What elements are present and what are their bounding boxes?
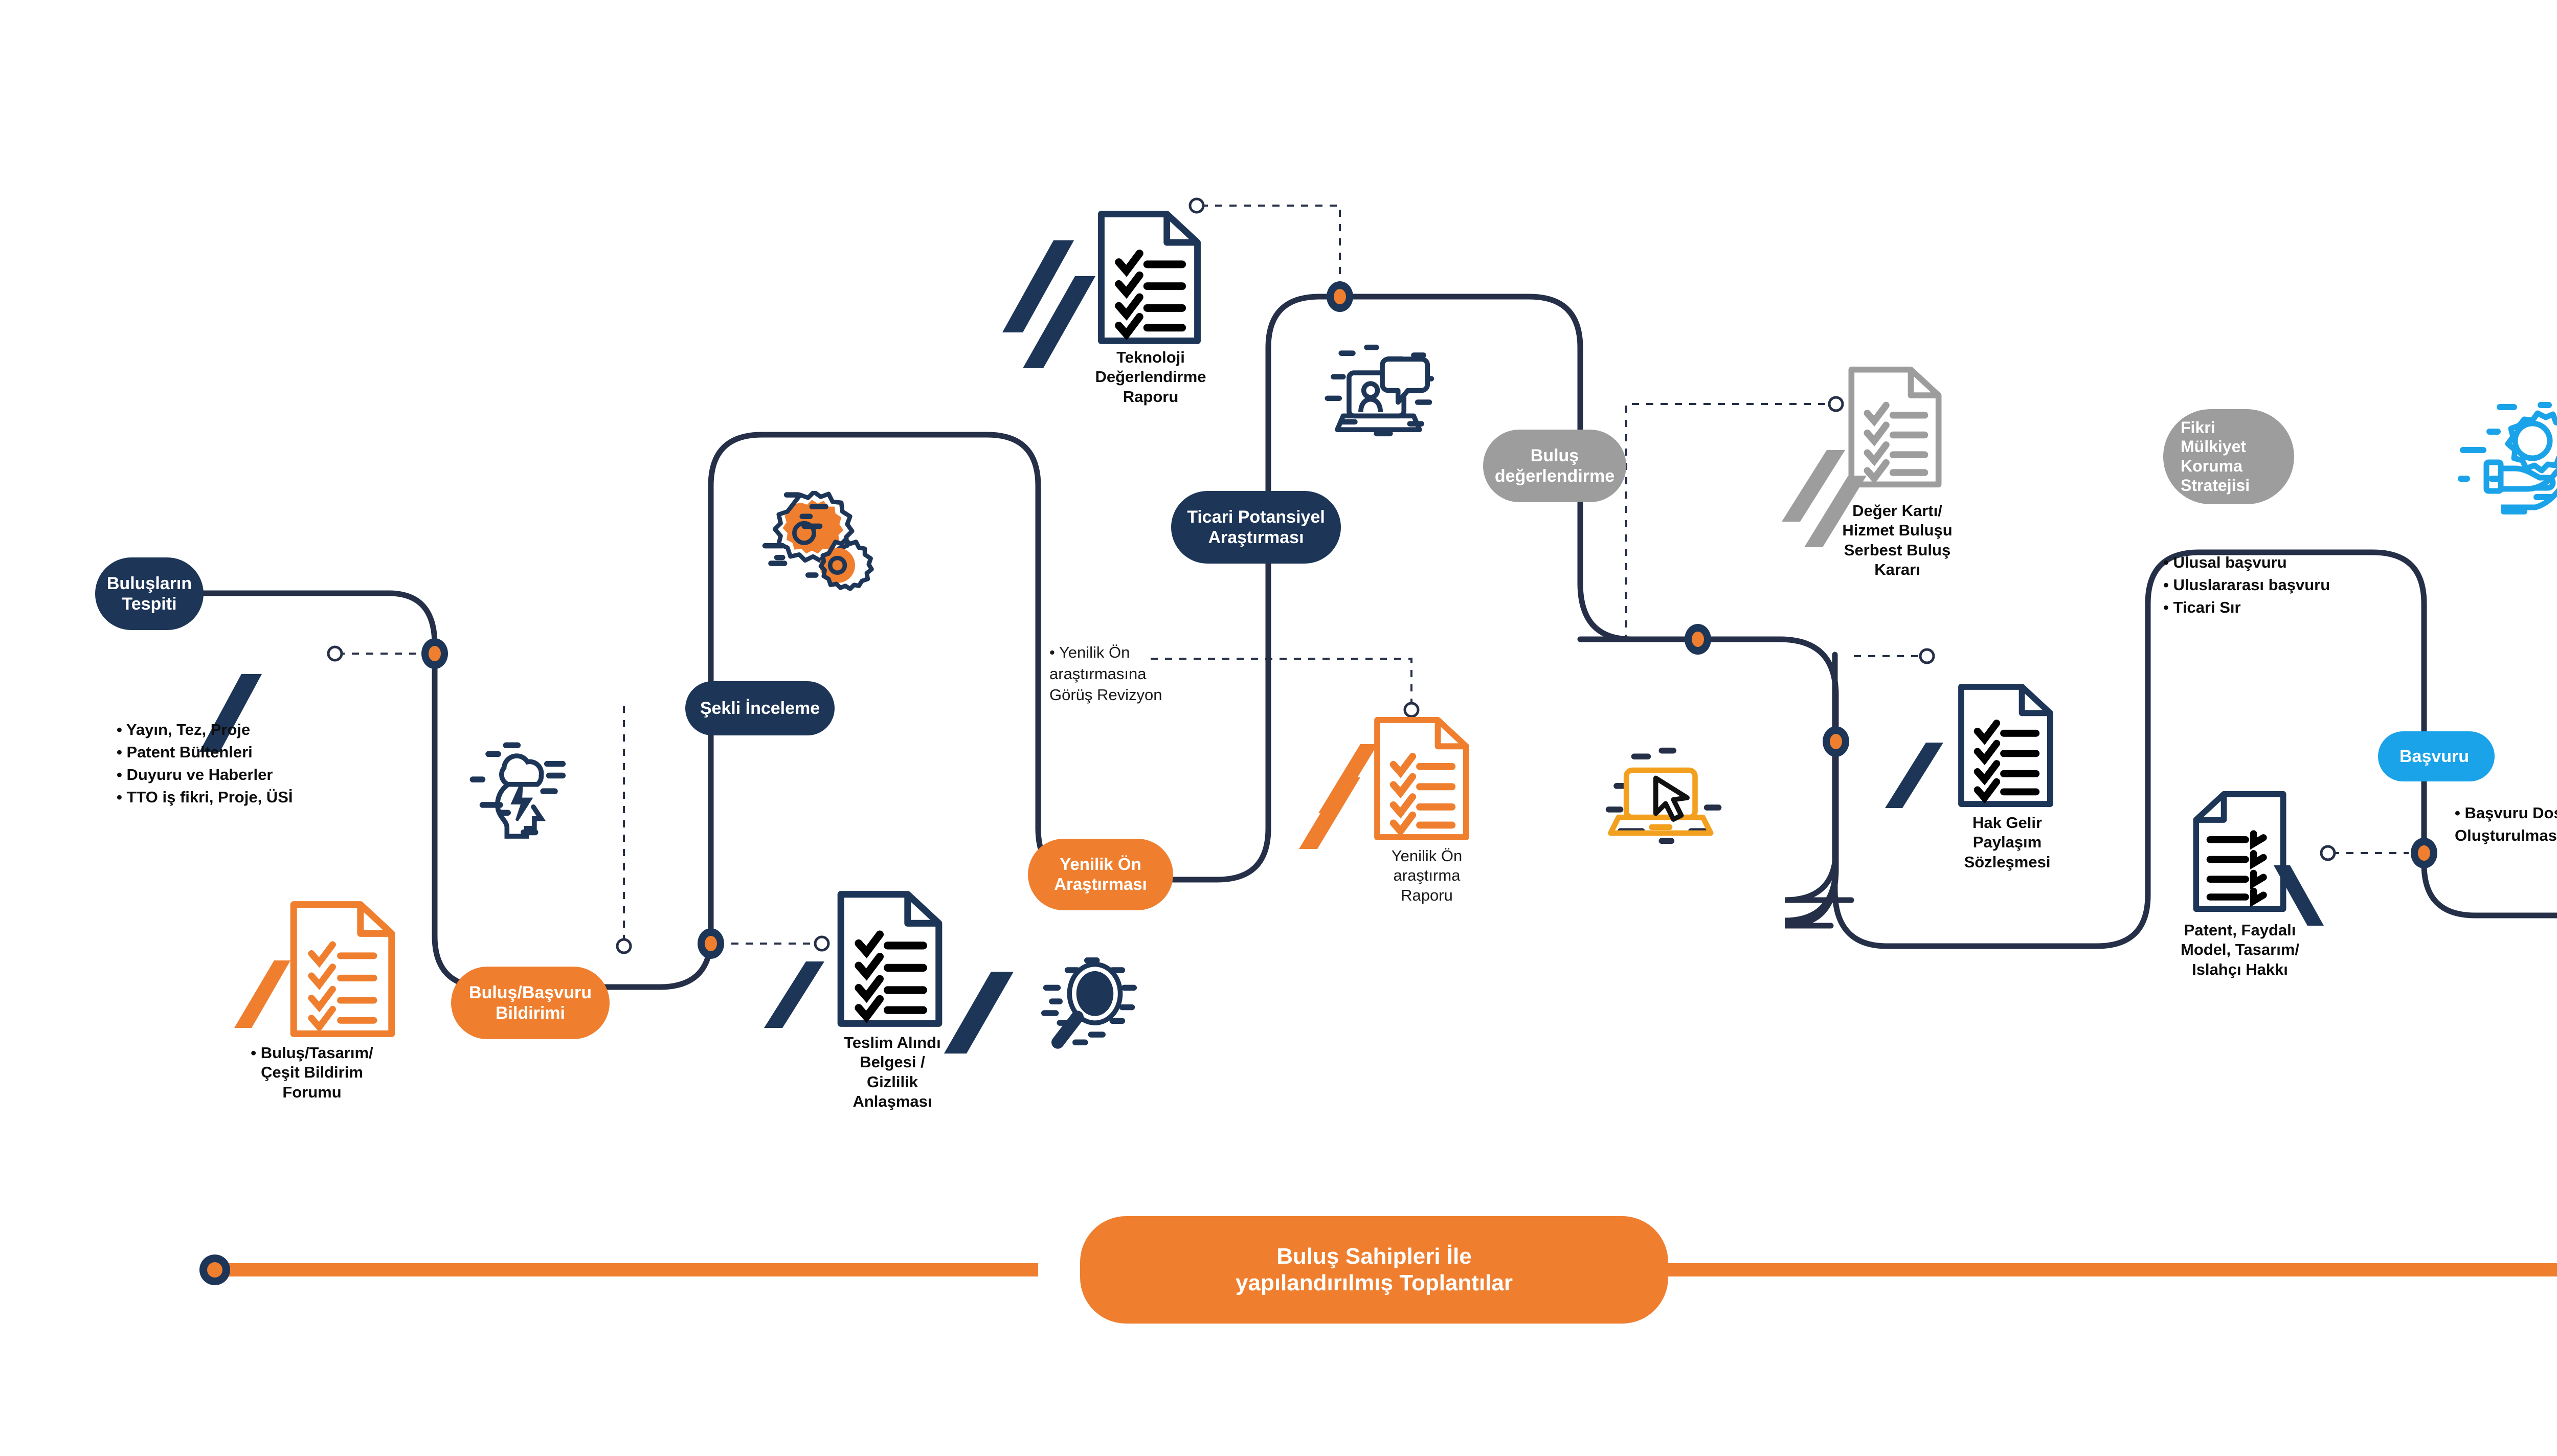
footer-label: Buluş Sahipleri İle yapılandırılmış Topl… (1236, 1243, 1513, 1296)
list-item: Görüş Revizyon (1049, 684, 1315, 706)
document-caption-patent-faydali-model: Patent, Faydalı Model, Tasarım/ Islahçı … (2117, 921, 2363, 979)
gears-icon (757, 491, 885, 603)
stage-pill-bulus-degerlendirme[interactable]: Buluş değerlendirme (1483, 430, 1626, 502)
list-item: • TTO iş fikri, Proje, ÜSİ (117, 786, 434, 809)
document-icon-patent-faydali-model (2190, 790, 2290, 913)
cloud-lightning-head-icon (463, 736, 580, 849)
stage-label: Buluş/Başvuru Bildirimi (469, 982, 592, 1023)
laptop-cursor-icon (1601, 747, 1729, 857)
laptop-chat-icon (1319, 338, 1447, 455)
list-item: • Başvuru Dosyalarının (2455, 802, 2557, 824)
stage-label: Başvuru (2399, 746, 2469, 767)
stage-pill-basvuru[interactable]: Başvuru (2378, 731, 2495, 781)
stage-pill-sekli-inceleme[interactable]: Şekli İnceleme (685, 681, 835, 735)
bullet-list-koruma: • Ulusal başvuru • Uluslararası başvuru … (2163, 551, 2480, 619)
stage-label: Şekli İnceleme (700, 698, 820, 719)
stage-pill-buluslarin-tespiti[interactable]: Buluşların Tespiti (95, 557, 204, 630)
document-icon-teslim-alindi (834, 890, 946, 1028)
stage-label: Ticari Potansiyel Araştırması (1187, 507, 1325, 548)
list-item: • Duyuru ve Haberler (117, 764, 434, 786)
list-item: • Ulusal başvuru (2163, 551, 2480, 574)
document-caption-teknoloji-degerlendirme: Teknoloji Değerlendirme Raporu (1013, 348, 1289, 407)
list-item: araştırmasına (1049, 663, 1315, 685)
list-item: • Patent Bültenleri (117, 741, 434, 764)
document-caption-teslim-alindi: Teslim Alındı Belgesi / Gizlilik Anlaşma… (772, 1033, 1013, 1112)
list-item: • Yenilik Ön (1049, 642, 1315, 663)
footer-pill-toplantilar[interactable]: Buluş Sahipleri İle yapılandırılmış Topl… (1080, 1216, 1668, 1324)
bullet-list-basvuru-dosyalari: • Başvuru Dosyalarının Oluşturulması (2455, 802, 2557, 847)
list-item: • Yayın, Tez, Proje (117, 719, 434, 741)
magnifier-icon (1038, 949, 1151, 1056)
document-icon-teknoloji-degerlendirme (1094, 210, 1204, 345)
stage-label: Buluş değerlendirme (1495, 445, 1614, 486)
stage-pill-yenilik-on-arastirmasi[interactable]: Yenilik Ön Araştırması (1028, 839, 1173, 910)
stage-label: Yenilik Ön Araştırması (1054, 855, 1147, 894)
stage-pill-ticari-potansiyel[interactable]: Ticari Potansiyel Araştırması (1171, 491, 1341, 564)
diagram-canvas: .mainpath{fill:none;stroke:#252f47;strok… (0, 0, 2557, 1456)
document-icon-deger-karti (1845, 366, 1945, 488)
stage-label: Buluşların Tespiti (107, 573, 192, 614)
document-icon-bulus-tasarim (286, 900, 399, 1038)
list-item: • Uluslararası başvuru (2163, 574, 2480, 596)
hand-gear-icon (2455, 399, 2557, 542)
document-icon-yenilik-raporu (1371, 716, 1473, 841)
document-icon-hak-gelir (1955, 683, 2057, 808)
bullet-list-gorus-revizyon: • Yenilik Ön araştırmasına Görüş Revizyo… (1049, 642, 1315, 706)
stage-label: Fikri Mülkiyet Koruma Stratejisi (2181, 418, 2281, 496)
flow-path-loop-hakgelir (1785, 701, 1836, 926)
document-caption-hak-gelir: Hak Gelir Paylaşım Sözleşmesi (1887, 813, 2127, 872)
document-caption-bulus-tasarim: • Buluş/Tasarım/ Çeşit Bildirim Forumu (205, 1043, 419, 1102)
list-item: Oluşturulması (2455, 824, 2557, 847)
list-item: • Ticari Sır (2163, 596, 2480, 619)
document-caption-deger-karti: Değer Kartı/ Hizmet Buluşu Serbest Buluş… (1754, 501, 2040, 580)
document-caption-yenilik-raporu: Yenilik Ön araştırma Raporu (1330, 846, 1524, 905)
stage-pill-bulus-basvuru-bildirimi[interactable]: Buluş/Başvuru Bildirimi (451, 967, 610, 1039)
stage-pill-fikri-mulkiyet-koruma[interactable]: Fikri Mülkiyet Koruma Stratejisi (2163, 409, 2294, 504)
bullet-list-tespit: • Yayın, Tez, Proje • Patent Bültenleri … (117, 719, 434, 809)
